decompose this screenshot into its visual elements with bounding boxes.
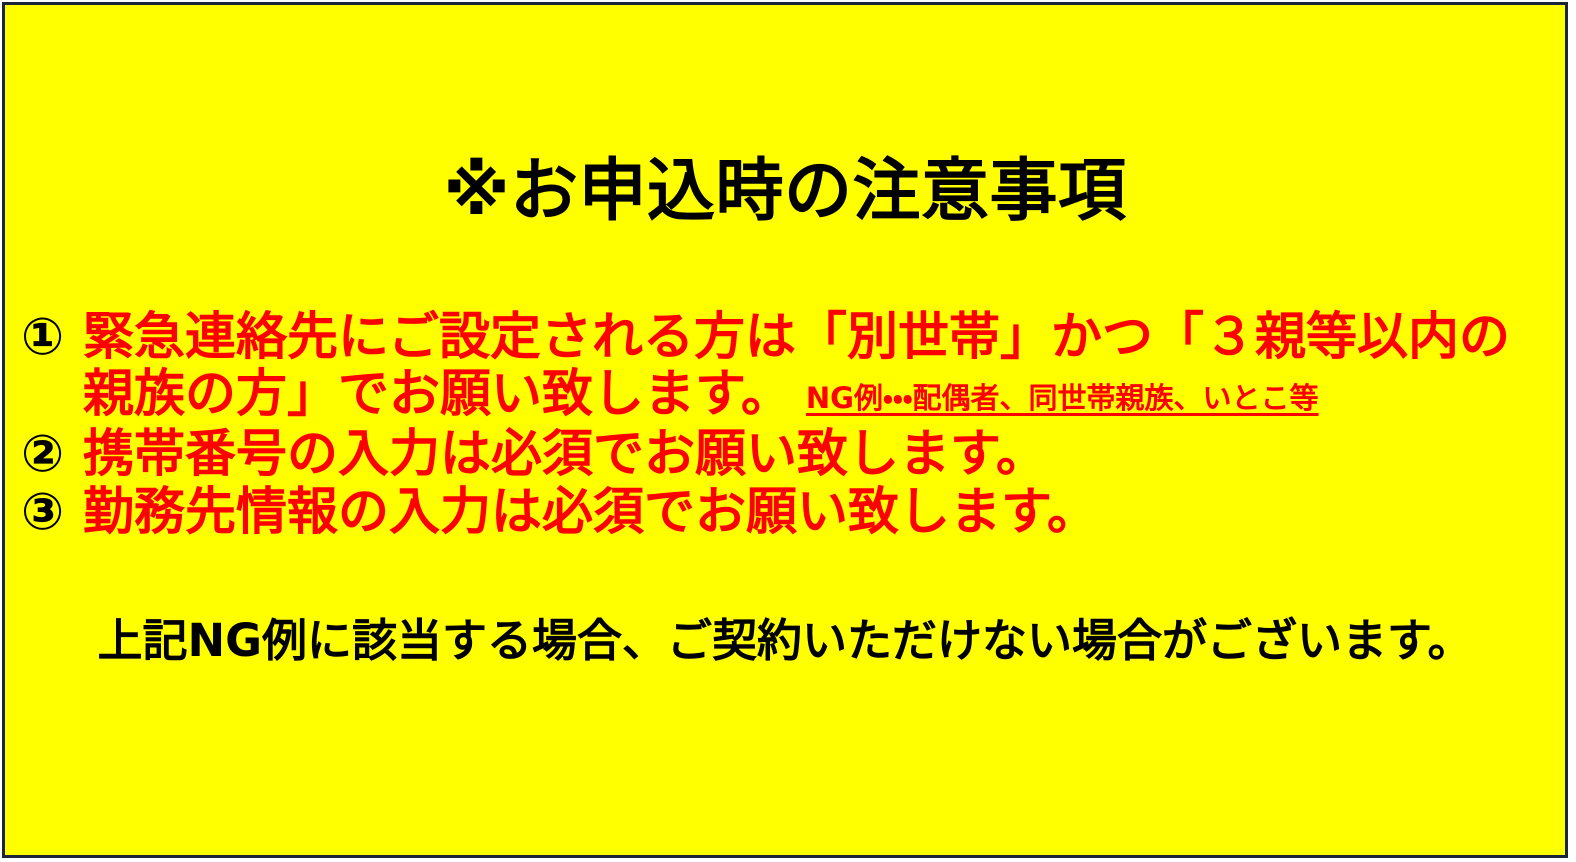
list-item-line-3a: 勤務先情報の入力は必須でお願い致します。: [83, 486, 1555, 540]
list-item-marker-3: ③: [21, 486, 79, 540]
title-block: ※お申込時の注意事項: [5, 157, 1565, 228]
list-item-line-1a: 緊急連絡先にご設定される方は「別世帯」かつ「３親等以内の: [83, 311, 1555, 365]
list-item: ① 緊急連絡先にご設定される方は「別世帯」かつ「３親等以内の 親族の方」でお願い…: [21, 311, 1555, 422]
footer-warning-text: 上記NG例に該当する場合、ご契約いただけない場合がございます。: [5, 613, 1565, 669]
notice-items-list: ① 緊急連絡先にご設定される方は「別世帯」かつ「３親等以内の 親族の方」でお願い…: [21, 311, 1555, 540]
list-item: ② 携帯番号の入力は必須でお願い致します。: [21, 428, 1555, 482]
list-item-line-1b-text: 親族の方」でお願い致します。: [83, 365, 792, 424]
page-title: ※お申込時の注意事項: [443, 157, 1126, 228]
list-item-marker-2: ②: [21, 428, 79, 482]
notice-panel: ※お申込時の注意事項 ① 緊急連絡先にご設定される方は「別世帯」かつ「３親等以内…: [2, 2, 1568, 858]
ng-example-note: NG例・・・配偶者、同世帯親族、いとこ等: [806, 381, 1319, 415]
list-item-line-2a: 携帯番号の入力は必須でお願い致します。: [83, 428, 1555, 482]
list-item-line-1b: 親族の方」でお願い致します。NG例・・・配偶者、同世帯親族、いとこ等: [83, 368, 1555, 422]
list-item: ③ 勤務先情報の入力は必須でお願い致します。: [21, 486, 1555, 540]
list-item-marker-1: ①: [21, 311, 79, 365]
